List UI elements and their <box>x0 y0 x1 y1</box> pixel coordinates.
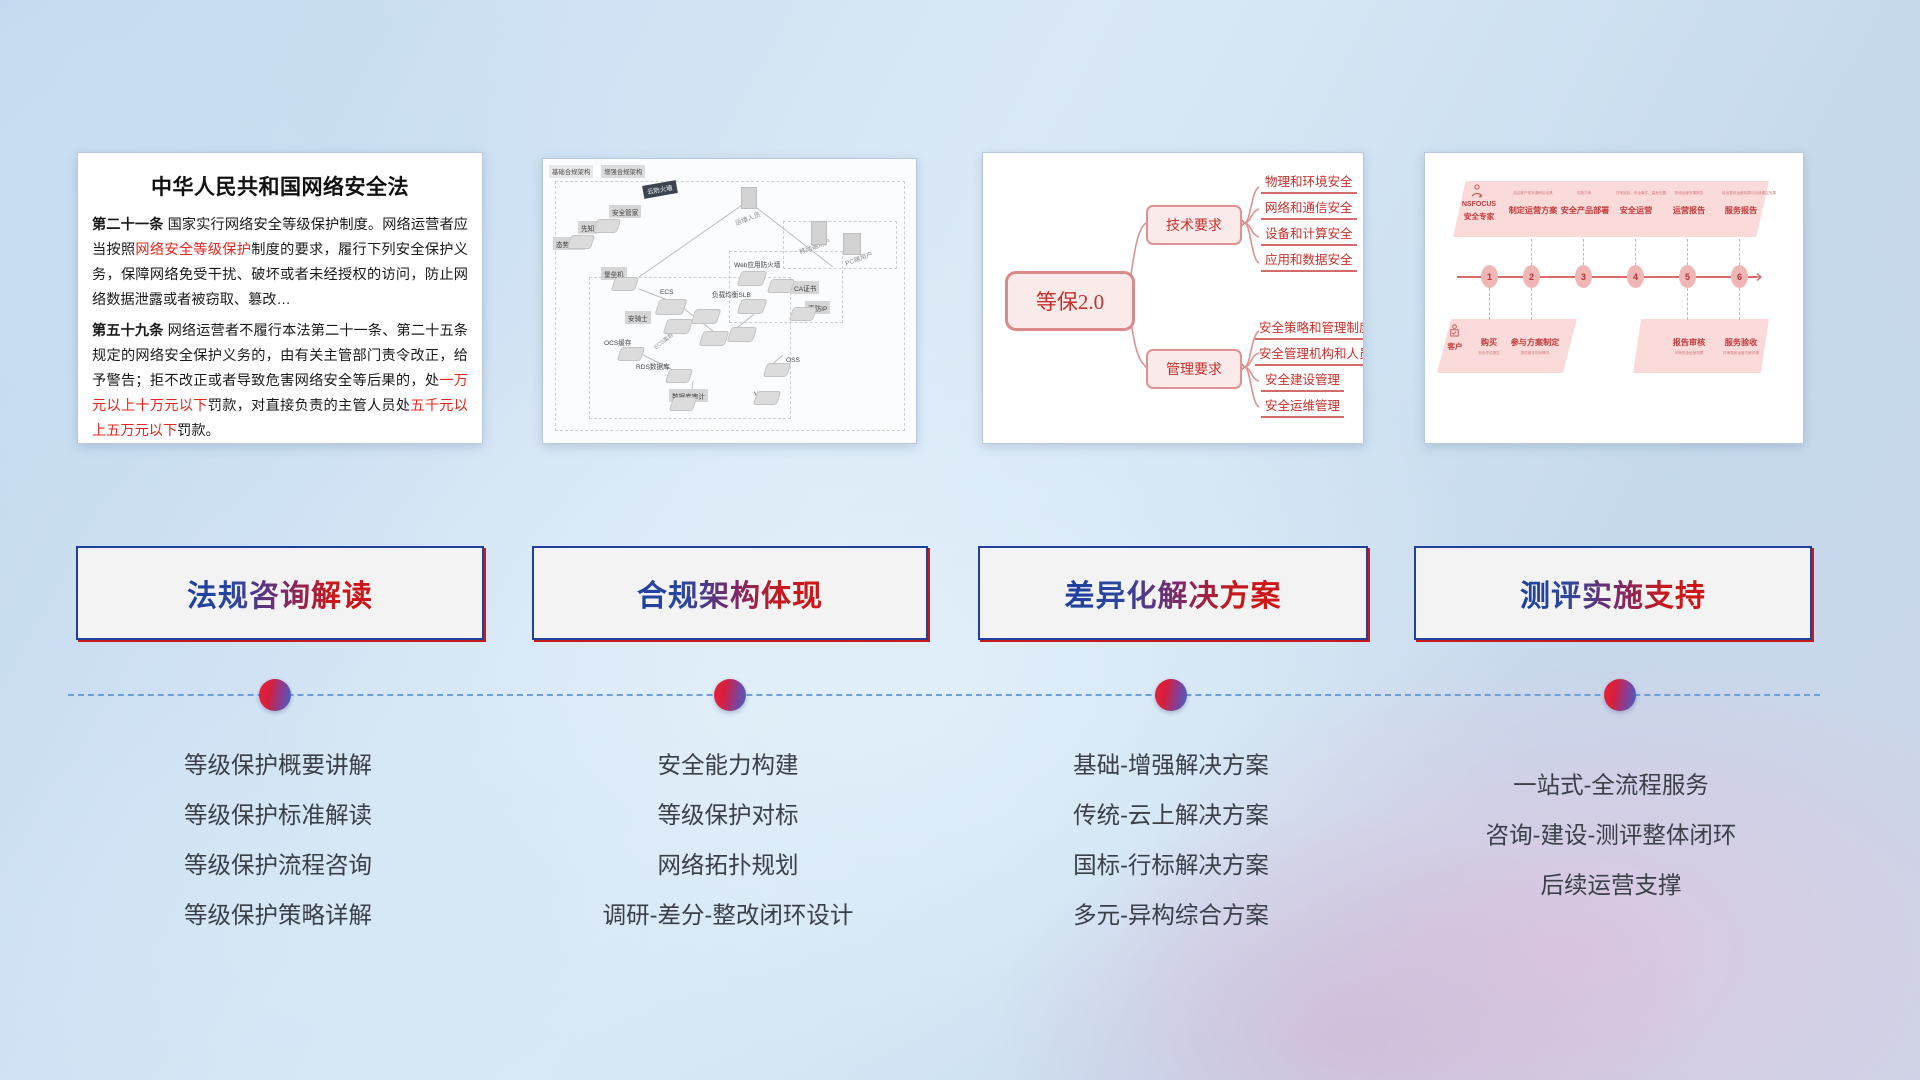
arch-block-ecs2 <box>663 319 694 334</box>
arch-block-slb <box>737 299 768 314</box>
nsfocus-step-5-tick-bottom <box>1687 288 1688 320</box>
law-title: 中华人民共和国网络安全法 <box>78 171 482 201</box>
list-item: 安全能力构建 <box>532 740 924 790</box>
heading-box-2[interactable]: 合规架构体现 <box>532 546 928 640</box>
list-item: 调研-差分-整改闭环设计 <box>532 890 924 940</box>
arch-node-rds-database: RDS数据库 <box>633 359 673 372</box>
law-body: 第二十一条 国家实行网络安全等级保护制度。网络运营者应当按照网络安全等级保护制度… <box>78 213 482 444</box>
nsfocus-process-diagram: NSFOCUS 安全专家 客户 1 购买 安全评估报告 <box>1425 153 1803 443</box>
card-nsfocus-process[interactable]: NSFOCUS 安全专家 客户 1 购买 安全评估报告 <box>1424 152 1804 444</box>
architecture-diagram: 基础合规架构 增强合规架构 <box>543 159 916 443</box>
mindmap-leaf-ops-mgmt: 安全运维管理 <box>1261 395 1344 418</box>
mindmap-branch-management[interactable]: 管理要求 <box>1146 349 1242 389</box>
customer-person-icon <box>1447 323 1462 339</box>
nsfocus-step-6-bottom-sub: 评审整体运营方案效果 <box>1707 351 1775 356</box>
nsfocus-step-2-bottom-sub: 提供基本现状情况 <box>1499 351 1571 356</box>
mindmap-leaf-app-data: 应用和数据安全 <box>1261 249 1357 272</box>
law-article-59-label: 第五十九条 <box>92 323 164 339</box>
expert-person-icon <box>1469 183 1485 199</box>
nsfocus-step-1-tick <box>1489 288 1490 320</box>
arch-block-1 <box>593 219 622 233</box>
mindmap-leaf-network-comm: 网络和通信安全 <box>1261 197 1357 220</box>
arch-block-ecs3 <box>691 309 722 324</box>
nsfocus-step-6-bottom-label: 服务验收 <box>1715 337 1767 348</box>
nsfocus-brand: NSFOCUS <box>1457 201 1501 208</box>
timeline-dot-2[interactable] <box>714 679 746 711</box>
nsfocus-step-1-dot[interactable]: 1 <box>1481 265 1498 288</box>
timeline-dot-3[interactable] <box>1155 679 1187 711</box>
mindmap-root-node[interactable]: 等保2.0 <box>1005 271 1135 331</box>
feature-list-1: 等级保护概要讲解 等级保护标准解读 等级保护流程咨询 等级保护策略详解 <box>76 740 480 940</box>
arch-block-2 <box>567 235 596 249</box>
list-item: 基础-增强解决方案 <box>978 740 1364 790</box>
heading-title-4: 测评实施支持 <box>1520 571 1706 615</box>
nsfocus-step-6-top-label: 服务报告 <box>1717 205 1765 216</box>
list-item: 网络拓扑规划 <box>532 840 924 890</box>
arch-block-oss <box>763 363 792 377</box>
law-article-59-text-b: 罚款，对直接负责的主管人员处 <box>208 398 411 414</box>
nsfocus-step-3-top-label: 安全产品部署 <box>1551 205 1619 216</box>
nsfocus-step-2-tick-bottom <box>1531 288 1532 320</box>
heading-title-1: 法规咨询解读 <box>187 571 373 615</box>
list-item: 传统-云上解决方案 <box>978 790 1364 840</box>
arch-node-ca-certificate: CA证书 <box>791 281 819 294</box>
law-article-59-text-c: 罚款。 <box>177 423 220 439</box>
nsfocus-step-6-dot[interactable]: 6 <box>1731 265 1748 288</box>
mindmap: 等保2.0 技术要求 管理要求 物理和环境安全 网络和通信安全 设备和计算安全 … <box>983 153 1363 443</box>
arch-block-ecs4 <box>699 331 730 346</box>
heading-box-3[interactable]: 差异化解决方案 <box>978 546 1368 640</box>
nsfocus-axis-arrow-icon <box>1749 270 1765 284</box>
arch-connectors <box>543 159 916 443</box>
slide-stage: 中华人民共和国网络安全法 第二十一条 国家实行网络安全等级保护制度。网络运营者应… <box>0 0 1920 1080</box>
mindmap-leaf-policy-system: 安全策略和管理制度 <box>1255 317 1364 340</box>
nsfocus-timeline-axis <box>1457 276 1757 278</box>
law-article-59: 第五十九条 网络运营者不履行本法第二十一条、第二十五条规定的网络安全保护义务的，… <box>92 319 468 444</box>
nsfocus-step-4-top-label: 安全运营 <box>1611 205 1661 216</box>
nsfocus-step-5-dot[interactable]: 5 <box>1679 265 1696 288</box>
card-mindmap-dengbao[interactable]: 等保2.0 技术要求 管理要求 物理和环境安全 网络和通信安全 设备和计算安全 … <box>982 152 1364 444</box>
nsfocus-brand-sub: 安全专家 <box>1457 211 1501 222</box>
arch-block-ops <box>741 187 757 209</box>
arch-block-waf <box>737 271 768 286</box>
list-item: 多元-异构综合方案 <box>978 890 1364 940</box>
nsfocus-step-3-dot[interactable]: 3 <box>1575 265 1592 288</box>
heading-box-4[interactable]: 测评实施支持 <box>1414 546 1812 640</box>
nsfocus-step-2-bottom-label: 参与方案制定 <box>1501 337 1569 348</box>
arch-node-anqishi: 安骑士 <box>625 311 651 324</box>
list-item: 等级保护策略详解 <box>76 890 480 940</box>
nsfocus-step-5-tick-top <box>1687 239 1688 265</box>
arch-block-audit <box>669 397 698 411</box>
arch-block-3 <box>611 277 640 291</box>
nsfocus-step-6-tick-top <box>1739 239 1740 265</box>
arch-node-security-butler: 安全管家 <box>609 205 641 218</box>
arch-block-pc <box>843 233 861 255</box>
timeline-dot-4[interactable] <box>1604 679 1636 711</box>
arch-block-ocs <box>617 347 646 361</box>
arch-block-ca <box>767 279 796 293</box>
law-article-21-highlight: 网络安全等级保护 <box>135 242 251 258</box>
list-item: 等级保护流程咨询 <box>76 840 480 890</box>
feature-list-2: 安全能力构建 等级保护对标 网络拓扑规划 调研-差分-整改闭环设计 <box>532 740 924 940</box>
feature-list-3: 基础-增强解决方案 传统-云上解决方案 国标-行标解决方案 多元-异构综合方案 <box>978 740 1364 940</box>
nsfocus-step-4-tick <box>1635 239 1636 265</box>
mindmap-leaf-device-compute: 设备和计算安全 <box>1261 223 1357 246</box>
timeline-dashed-line <box>68 694 1820 696</box>
nsfocus-step-4-dot[interactable]: 4 <box>1627 265 1644 288</box>
list-item: 国标-行标解决方案 <box>978 840 1364 890</box>
timeline-dot-1[interactable] <box>259 679 291 711</box>
arch-node-waf: Web应用防火墙 <box>731 257 783 270</box>
law-article-21: 第二十一条 国家实行网络安全等级保护制度。网络运营者应当按照网络安全等级保护制度… <box>92 213 468 313</box>
list-item: 一站式-全流程服务 <box>1414 760 1808 810</box>
nsfocus-step-6-top-sub: 给出整体运营效果与后续建议效果 <box>1697 191 1801 196</box>
law-article-21-label: 第二十一条 <box>92 217 164 233</box>
card-cybersecurity-law[interactable]: 中华人民共和国网络安全法 第二十一条 国家实行网络安全等级保护制度。网络运营者应… <box>77 152 483 444</box>
heading-title-2: 合规架构体现 <box>637 571 823 615</box>
list-item: 等级保护概要讲解 <box>76 740 480 790</box>
heading-title-3: 差异化解决方案 <box>1065 571 1282 615</box>
nsfocus-step-2-top-sub: 结合客户现状调研后出具 <box>1495 191 1571 196</box>
arch-block-mobile <box>811 221 827 245</box>
nsfocus-step-2-dot[interactable]: 2 <box>1523 265 1540 288</box>
mindmap-leaf-org-personnel: 安全管理机构和人员 <box>1255 343 1364 366</box>
nsfocus-step-5-top-label: 运营报告 <box>1665 205 1713 216</box>
feature-list-4: 一站式-全流程服务 咨询-建设-测评整体闭环 后续运营支撑 <box>1414 740 1808 910</box>
heading-box-1[interactable]: 法规咨询解读 <box>76 546 484 640</box>
nsfocus-step-5-bottom-label: 报告审核 <box>1663 337 1715 348</box>
mindmap-branch-technical[interactable]: 技术要求 <box>1146 205 1242 245</box>
nsfocus-step-3-tick <box>1583 239 1584 265</box>
thumbnail-card-row: 中华人民共和国网络安全法 第二十一条 国家实行网络安全等级保护制度。网络运营者应… <box>0 152 1920 452</box>
arch-block-rds <box>665 369 694 383</box>
mindmap-leaf-construction-mgmt: 安全建设管理 <box>1261 369 1344 392</box>
mindmap-leaf-physical-env: 物理和环境安全 <box>1261 171 1357 194</box>
list-item: 后续运营支撑 <box>1414 860 1808 910</box>
list-item: 等级保护对标 <box>532 790 924 840</box>
arch-block-ecs5 <box>727 327 758 342</box>
list-item: 等级保护标准解读 <box>76 790 480 840</box>
arch-node-ecs: ECS <box>657 287 677 297</box>
nsfocus-step-6-tick-bottom <box>1739 288 1740 320</box>
arch-block-vpc <box>753 391 782 405</box>
arch-block-ip <box>789 307 818 321</box>
card-compliance-architecture[interactable]: 基础合规架构 增强合规架构 <box>542 158 917 444</box>
list-item: 咨询-建设-测评整体闭环 <box>1414 810 1808 860</box>
arch-block-ecs <box>654 299 687 315</box>
nsfocus-step-2-tick-top <box>1531 239 1532 265</box>
